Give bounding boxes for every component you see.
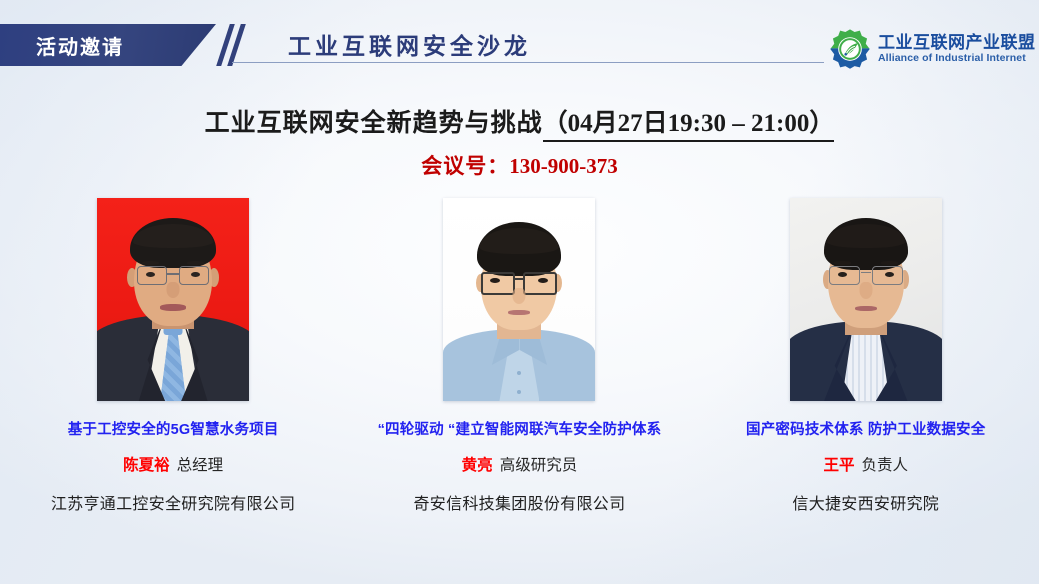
speaker-identity: 王平负责人 xyxy=(823,457,908,476)
photo-brow-left xyxy=(834,261,851,265)
logo-text-block: 工业互联网产业联盟 Alliance of Industrial Interne… xyxy=(878,34,1036,65)
speaker-card: “四轮驱动 “建立智能网联汽车安全防护体系 黄亮高级研究员 奇安信科技集团股份有… xyxy=(346,198,692,538)
photo-brow-right xyxy=(187,261,204,265)
logo-english-name: Alliance of Industrial Internet xyxy=(878,53,1036,64)
slide-header: 活动邀请 工业互联网安全沙龙 xyxy=(0,0,1039,86)
photo-mouth xyxy=(508,310,530,315)
speaker-identity: 陈夏裕总经理 xyxy=(123,457,223,476)
meeting-number-block: 会议号：130-900-373 xyxy=(421,150,618,180)
header-divider xyxy=(232,62,824,63)
speaker-organization: 奇安信科技集团股份有限公司 xyxy=(413,495,625,514)
photo-eye-right xyxy=(885,272,894,277)
speaker-photo xyxy=(97,198,249,401)
speaker-photo xyxy=(790,198,942,401)
event-datetime: （04月27日19:30 – 21:00） xyxy=(543,110,835,142)
photo-shirt-button xyxy=(517,371,521,375)
logo-chinese-name: 工业互联网产业联盟 xyxy=(878,34,1036,52)
speaker-card: 国产密码技术体系 防护工业数据安全 王平负责人 信大捷安西安研究院 xyxy=(693,198,1039,538)
meeting-number-label: 会议号： xyxy=(421,155,509,178)
photo-brow-left xyxy=(142,261,159,265)
speaker-role: 高级研究员 xyxy=(500,457,578,474)
speaker-identity: 黄亮高级研究员 xyxy=(462,457,578,476)
photo-glasses-bridge xyxy=(167,273,179,275)
double-slash-icon xyxy=(222,24,244,66)
photo-glasses-bridge xyxy=(861,272,871,273)
meeting-number-value: 130-900-373 xyxy=(509,154,618,178)
photo-mouth xyxy=(855,306,877,311)
photo-mouth xyxy=(160,304,186,311)
speaker-name: 黄亮 xyxy=(462,457,493,474)
event-title: 工业互联网安全新趋势与挑战（04月27日19:30 – 21:00） xyxy=(205,103,835,139)
photo-nose xyxy=(859,282,872,299)
speaker-photo xyxy=(443,198,595,401)
speaker-name: 王平 xyxy=(823,457,854,474)
photo-glasses-left xyxy=(481,272,515,295)
event-title-row: 工业互联网安全新趋势与挑战（04月27日19:30 – 21:00） xyxy=(0,103,1039,139)
organization-logo: 工业互联网产业联盟 Alliance of Industrial Interne… xyxy=(829,27,1029,71)
photo-shirt-button xyxy=(517,390,521,394)
header-title: 工业互联网安全沙龙 xyxy=(288,27,531,61)
speaker-list: 基于工控安全的5G智慧水务项目 陈夏裕总经理 江苏亨通工控安全研究院有限公司 xyxy=(0,198,1039,538)
speaker-talk-title: 基于工控安全的5G智慧水务项目 xyxy=(68,422,279,439)
photo-brow-right xyxy=(881,261,898,265)
speaker-organization: 信大捷安西安研究院 xyxy=(792,495,939,514)
event-title-text: 工业互联网安全新趋势与挑战 xyxy=(205,109,543,137)
photo-nose xyxy=(167,282,180,298)
photo-glasses-right xyxy=(523,272,557,295)
speaker-talk-title: 国产密码技术体系 防护工业数据安全 xyxy=(746,422,985,439)
header-ribbon-label: 活动邀请 xyxy=(36,31,124,60)
speaker-talk-title: “四轮驱动 “建立智能网联汽车安全防护体系 xyxy=(378,422,662,439)
photo-glasses-bridge xyxy=(514,278,524,280)
meeting-number-row: 会议号：130-900-373 xyxy=(0,150,1039,180)
speaker-role: 总经理 xyxy=(177,457,224,474)
speaker-organization: 江苏亨通工控安全研究院有限公司 xyxy=(51,495,296,514)
photo-eye-left xyxy=(838,272,847,277)
header-ribbon: 活动邀请 xyxy=(0,24,216,66)
gear-logo-icon xyxy=(829,28,871,70)
speaker-name: 陈夏裕 xyxy=(123,457,170,474)
speaker-card: 基于工控安全的5G智慧水务项目 陈夏裕总经理 江苏亨通工控安全研究院有限公司 xyxy=(0,198,346,538)
photo-nose xyxy=(513,288,526,304)
speaker-role: 负责人 xyxy=(861,457,908,474)
invitation-slide: 活动邀请 工业互联网安全沙龙 xyxy=(0,0,1039,584)
